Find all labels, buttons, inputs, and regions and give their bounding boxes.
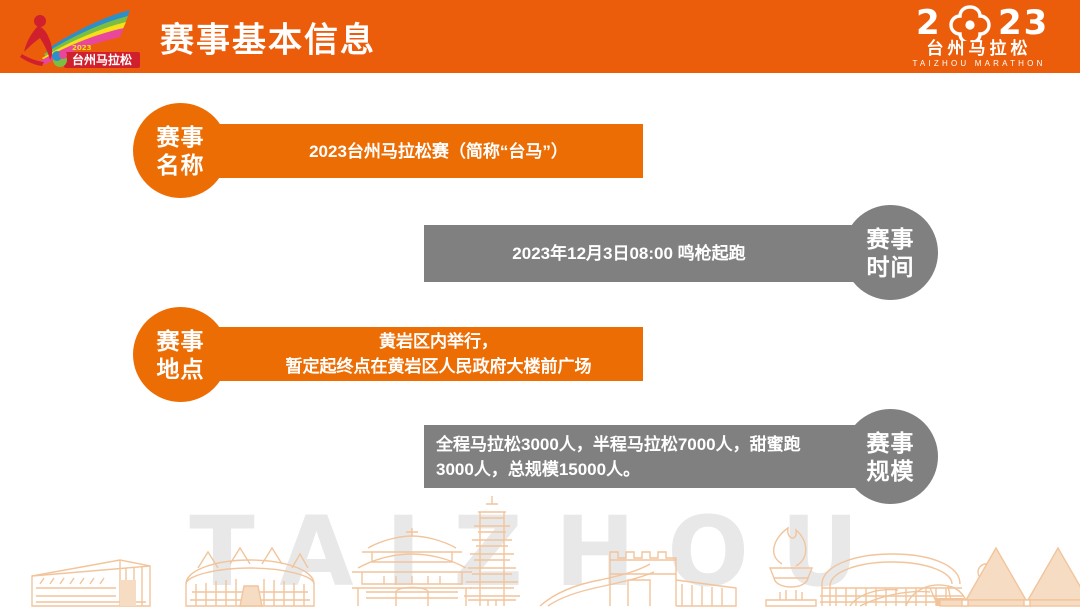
flower-emblem xyxy=(951,7,989,41)
event-time-label-badge: 赛事 时间 xyxy=(843,205,938,300)
cable-bridge-icon xyxy=(940,548,1080,606)
event-name-value: 2023台州马拉松赛（简称“台马”） xyxy=(250,139,627,164)
badge-line-1: 赛事 xyxy=(157,327,205,355)
badge-line-1: 赛事 xyxy=(867,225,915,253)
event-name-label-badge: 赛事 名称 xyxy=(133,103,228,198)
event-location-value: 黄岩区内举行， 暂定起终点在黄岩区人民政府大楼前广场 xyxy=(250,329,627,379)
event-scale-value: 全程马拉松3000人，半程马拉松7000人，甜蜜跑 3000人，总规模15000… xyxy=(436,432,814,482)
brick-pagoda-icon xyxy=(464,496,520,606)
taizhou-marathon-event-logo: 台州马拉松 2023 xyxy=(14,4,142,70)
grand-theater-icon xyxy=(820,554,964,606)
taizhou-marathon-2023-logo: 2 23 台州马拉松 TAIZHOU MARATHON xyxy=(890,3,1068,71)
event-location-bar: 黄岩区内举行， 暂定起终点在黄岩区人民政府大楼前广场 xyxy=(180,327,643,381)
svg-text:23: 23 xyxy=(998,3,1049,41)
event-scale-line-1: 全程马拉松3000人，半程马拉松7000人，甜蜜跑 xyxy=(436,432,814,457)
sports-stadium-icon xyxy=(186,548,314,606)
svg-text:2: 2 xyxy=(916,3,942,41)
footer-artwork: TAIZHOU xyxy=(0,488,1080,608)
badge-line-2: 规模 xyxy=(867,457,915,485)
badge-line-2: 名称 xyxy=(157,151,205,179)
svg-text:台州马拉松: 台州马拉松 xyxy=(72,52,132,67)
badge-line-1: 赛事 xyxy=(157,123,205,151)
svg-text:2023: 2023 xyxy=(72,44,92,52)
event-scale-label-badge: 赛事 规模 xyxy=(843,409,938,504)
event-scale-bar: 全程马拉松3000人，半程马拉松7000人，甜蜜跑 3000人，总规模15000… xyxy=(424,425,890,488)
exhibition-center-icon xyxy=(32,560,150,606)
event-location-label-badge: 赛事 地点 xyxy=(133,307,228,402)
flame-torch-sculpture-icon xyxy=(766,528,816,606)
event-time-bar: 2023年12月3日08:00 鸣枪起跑 xyxy=(424,225,890,282)
great-wall-icon xyxy=(540,552,736,606)
event-location-line-2: 暂定起终点在黄岩区人民政府大楼前广场 xyxy=(250,354,627,379)
event-scale-line-2: 3000人，总规模15000人。 xyxy=(436,457,814,482)
page-title: 赛事基本信息 xyxy=(160,12,376,61)
event-time-value: 2023年12月3日08:00 鸣枪起跑 xyxy=(440,241,818,266)
event-name-bar: 2023台州马拉松赛（简称“台马”） xyxy=(180,124,643,178)
badge-line-2: 地点 xyxy=(157,355,205,383)
event-location-line-1: 黄岩区内举行， xyxy=(250,329,627,354)
city-skyline-illustration xyxy=(0,488,1080,608)
logo-year-row: 2 23 xyxy=(890,3,1068,39)
logo-english-name: TAIZHOU MARATHON xyxy=(890,58,1068,69)
badge-line-2: 时间 xyxy=(867,253,915,281)
badge-line-1: 赛事 xyxy=(867,429,915,457)
pagoda-temple-icon xyxy=(352,528,472,606)
logo-chinese-name: 台州马拉松 xyxy=(890,39,1068,58)
page-header: 台州马拉松 2023 赛事基本信息 2 23 台州马拉松 TAIZHOU MAR… xyxy=(0,0,1080,73)
